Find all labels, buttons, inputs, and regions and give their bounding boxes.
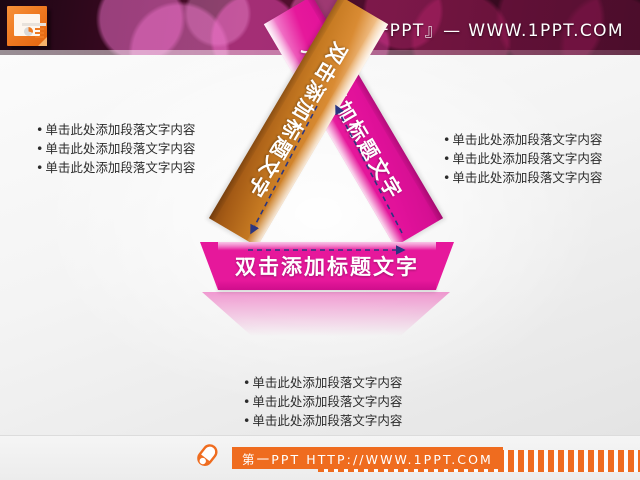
- logo-fold-corner: [38, 37, 47, 46]
- text-line: 单击此处添加段落文字内容: [36, 158, 195, 177]
- cycle-arrows: [176, 0, 476, 330]
- pencil-icon-svg: [190, 443, 224, 473]
- footer-bar: 第一PPT HTTP://WWW.1PPT.COM: [0, 435, 640, 480]
- text-line: 单击此处添加段落文字内容: [443, 149, 602, 168]
- logo-line-1: [35, 28, 44, 30]
- text-line: 单击此处添加段落文字内容: [243, 392, 402, 411]
- logo-card-titlebar: [22, 23, 46, 26]
- arrow-top-to-left: [251, 106, 317, 233]
- text-line: 单击此处添加段落文字内容: [243, 373, 402, 392]
- text-block-left[interactable]: 单击此处添加段落文字内容 单击此处添加段落文字内容 单击此处添加段落文字内容: [36, 120, 195, 177]
- logo-card: [14, 14, 40, 36]
- arrow-right-to-top: [336, 106, 402, 233]
- footer-content: 第一PPT HTTP://WWW.1PPT.COM: [190, 443, 503, 473]
- powerpoint-file-icon: [7, 6, 51, 50]
- text-block-right[interactable]: 单击此处添加段落文字内容 单击此处添加段落文字内容 单击此处添加段落文字内容: [443, 130, 602, 187]
- text-line: 单击此处添加段落文字内容: [243, 411, 402, 430]
- text-line: 单击此处添加段落文字内容: [36, 139, 195, 158]
- slide-canvas: 『第一PPT』— WWW.1PPT.COM 双击添加标题文字 双击添加标题文字 …: [0, 0, 640, 480]
- text-line: 单击此处添加段落文字内容: [36, 120, 195, 139]
- text-line: 单击此处添加段落文字内容: [443, 168, 602, 187]
- text-block-bottom[interactable]: 单击此处添加段落文字内容 单击此处添加段落文字内容 单击此处添加段落文字内容: [243, 373, 402, 430]
- footer-url-text: 第一PPT HTTP://WWW.1PPT.COM: [242, 449, 493, 468]
- text-line: 单击此处添加段落文字内容: [443, 130, 602, 149]
- pie-chart-icon: [24, 27, 33, 36]
- footer-url-bar[interactable]: 第一PPT HTTP://WWW.1PPT.COM: [232, 447, 503, 469]
- logo-line-2: [35, 32, 44, 34]
- pencil-icon: [190, 443, 224, 473]
- logo-body: [7, 6, 47, 46]
- cycle-arrows-svg: [176, 0, 476, 330]
